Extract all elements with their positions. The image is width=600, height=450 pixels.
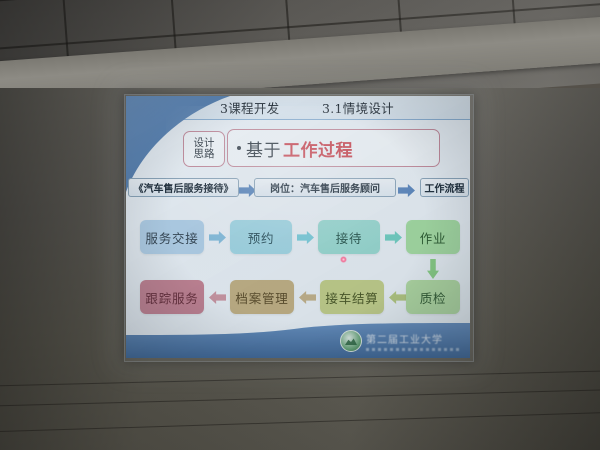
- powerpoint-slide: 3课程开发 3.1情境设计 设计 思路 基于 工作过程 《汽车售后服务接待》 岗…: [126, 96, 470, 358]
- header-left-title: 3课程开发: [220, 98, 279, 117]
- flow-box-service-handover: 服务交接: [140, 220, 204, 254]
- chip-position: 岗位：汽车售后服务顾问: [254, 178, 396, 197]
- chip-course: 《汽车售后服务接待》: [128, 178, 239, 197]
- design-idea-label-line2: 思路: [194, 149, 215, 160]
- logo-subtext: [366, 348, 462, 351]
- flow-arrow-down-icon: [427, 259, 439, 279]
- flow-arrow-5-icon: [299, 291, 316, 304]
- flow-box-reservation: 预约: [230, 220, 292, 254]
- flow-box-operation: 作业: [406, 220, 460, 254]
- flow-arrow-4-icon: [209, 291, 226, 304]
- flow-box-vehicle-settlement: 接车结算: [320, 280, 384, 314]
- flow-box-reception: 接待: [318, 220, 380, 254]
- chain-arrow-2-icon: [398, 184, 415, 197]
- flow-arrow-6-icon: [389, 291, 406, 304]
- bullet-icon: [237, 146, 241, 150]
- design-idea-label: 设计 思路: [183, 131, 225, 167]
- chip-process: 工作流程: [420, 178, 469, 197]
- projection-screen[interactable]: 3课程开发 3.1情境设计 设计 思路 基于 工作过程 《汽车售后服务接待》 岗…: [126, 96, 470, 358]
- institution-logo: 第二届工业大学: [340, 329, 462, 353]
- design-idea-statement: 基于 工作过程: [227, 129, 440, 167]
- chain-row: 《汽车售后服务接待》 岗位：汽车售后服务顾问 工作流程: [126, 178, 470, 199]
- header-right-title: 3.1情境设计: [322, 98, 394, 117]
- flow-box-followup-service: 跟踪服务: [140, 280, 204, 314]
- statement-highlight: 工作过程: [283, 136, 353, 161]
- flow-arrow-3-icon: [385, 231, 402, 244]
- statement-prefix: 基于: [246, 136, 281, 161]
- flow-arrow-2-icon: [297, 231, 314, 244]
- flow-box-file-management: 档案管理: [230, 280, 294, 314]
- flow-box-quality-inspection: 质检: [406, 280, 460, 314]
- logo-text: 第二届工业大学: [366, 331, 462, 346]
- logo-emblem-icon: [340, 330, 362, 352]
- flow-arrow-1-icon: [209, 231, 226, 244]
- classroom-scene: 3课程开发 3.1情境设计 设计 思路 基于 工作过程 《汽车售后服务接待》 岗…: [0, 0, 600, 450]
